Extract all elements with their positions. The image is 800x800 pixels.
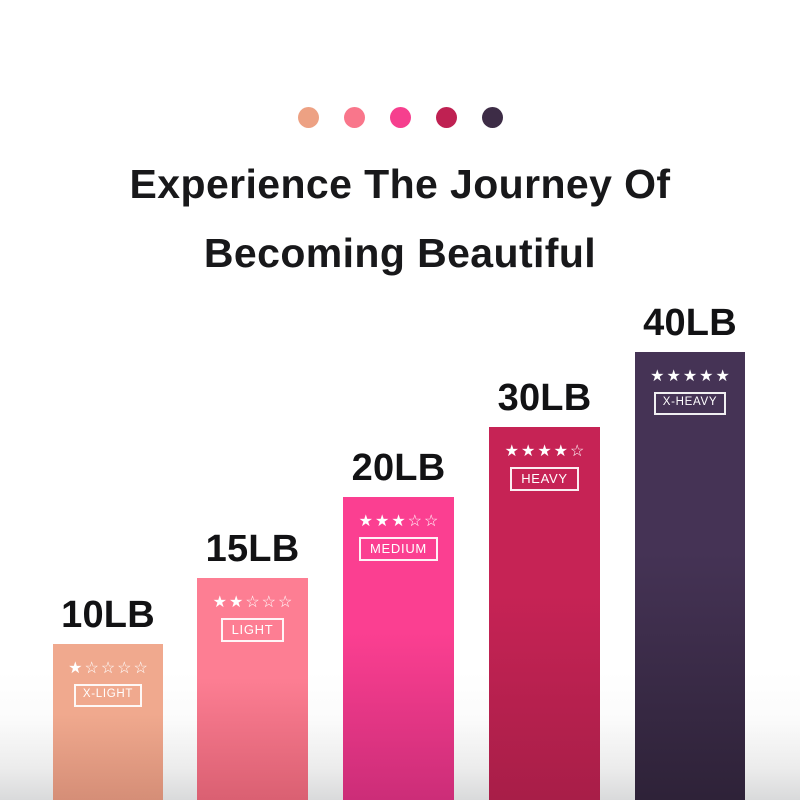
bar-fill — [635, 352, 745, 800]
bar-body: ★★☆☆☆LIGHT — [197, 578, 308, 800]
tier-badge: LIGHT — [221, 618, 285, 642]
tier-badge: X-HEAVY — [654, 392, 727, 415]
star-empty-icon: ☆ — [278, 595, 292, 611]
star-filled-icon: ★ — [650, 369, 664, 385]
star-filled-icon: ★ — [699, 369, 713, 385]
product-infographic-poster: Experience The Journey Of Becoming Beaut… — [0, 0, 800, 800]
tier-badge: X-LIGHT — [74, 684, 142, 707]
bar-rating-block: ★★☆☆☆LIGHT — [197, 595, 308, 642]
star-empty-icon: ☆ — [424, 514, 438, 530]
star-filled-icon: ★ — [359, 514, 373, 530]
star-filled-icon: ★ — [229, 595, 243, 611]
bar-rating-block: ★★★★★X-HEAVY — [635, 369, 745, 415]
star-rating: ★★★★☆ — [505, 444, 585, 460]
star-filled-icon: ★ — [213, 595, 227, 611]
star-filled-icon: ★ — [375, 514, 389, 530]
star-filled-icon: ★ — [716, 369, 730, 385]
star-filled-icon: ★ — [521, 444, 535, 460]
star-rating: ★★★★★ — [650, 369, 730, 385]
star-empty-icon: ☆ — [570, 444, 584, 460]
bar-body: ★★★☆☆MEDIUM — [343, 497, 454, 800]
star-rating: ★☆☆☆☆ — [68, 661, 148, 677]
star-empty-icon: ☆ — [245, 595, 259, 611]
tier-badge: HEAVY — [510, 467, 579, 491]
star-filled-icon: ★ — [391, 514, 405, 530]
bar-rating-block: ★★★☆☆MEDIUM — [343, 514, 454, 561]
bar-40lb[interactable]: 40LB★★★★★X-HEAVY — [635, 352, 745, 800]
bar-rating-block: ★★★★☆HEAVY — [489, 444, 600, 491]
star-filled-icon: ★ — [554, 444, 568, 460]
bar-weight-label: 15LB — [206, 528, 300, 571]
bar-weight-label: 30LB — [498, 377, 592, 420]
star-empty-icon: ☆ — [84, 661, 98, 677]
star-filled-icon: ★ — [537, 444, 551, 460]
star-rating: ★★☆☆☆ — [213, 595, 293, 611]
star-filled-icon: ★ — [683, 369, 697, 385]
tier-badge: MEDIUM — [359, 537, 438, 561]
star-filled-icon: ★ — [68, 661, 82, 677]
bar-body: ★★★★★X-HEAVY — [635, 352, 745, 800]
bar-body: ★☆☆☆☆X-LIGHT — [53, 644, 163, 800]
bar-rating-block: ★☆☆☆☆X-LIGHT — [53, 661, 163, 707]
bar-30lb[interactable]: 30LB★★★★☆HEAVY — [489, 427, 600, 800]
bar-weight-label: 20LB — [352, 447, 446, 490]
bar-20lb[interactable]: 20LB★★★☆☆MEDIUM — [343, 497, 454, 800]
resistance-band-bar-chart: 10LB★☆☆☆☆X-LIGHT15LB★★☆☆☆LIGHT20LB★★★☆☆M… — [0, 0, 800, 800]
star-filled-icon: ★ — [505, 444, 519, 460]
star-empty-icon: ☆ — [101, 661, 115, 677]
star-empty-icon: ☆ — [262, 595, 276, 611]
star-rating: ★★★☆☆ — [359, 514, 439, 530]
star-empty-icon: ☆ — [117, 661, 131, 677]
star-empty-icon: ☆ — [408, 514, 422, 530]
bar-10lb[interactable]: 10LB★☆☆☆☆X-LIGHT — [53, 644, 163, 800]
star-empty-icon: ☆ — [134, 661, 148, 677]
bar-weight-label: 10LB — [61, 594, 155, 637]
bar-weight-label: 40LB — [643, 302, 737, 345]
bar-body: ★★★★☆HEAVY — [489, 427, 600, 800]
bar-15lb[interactable]: 15LB★★☆☆☆LIGHT — [197, 578, 308, 800]
star-filled-icon: ★ — [666, 369, 680, 385]
